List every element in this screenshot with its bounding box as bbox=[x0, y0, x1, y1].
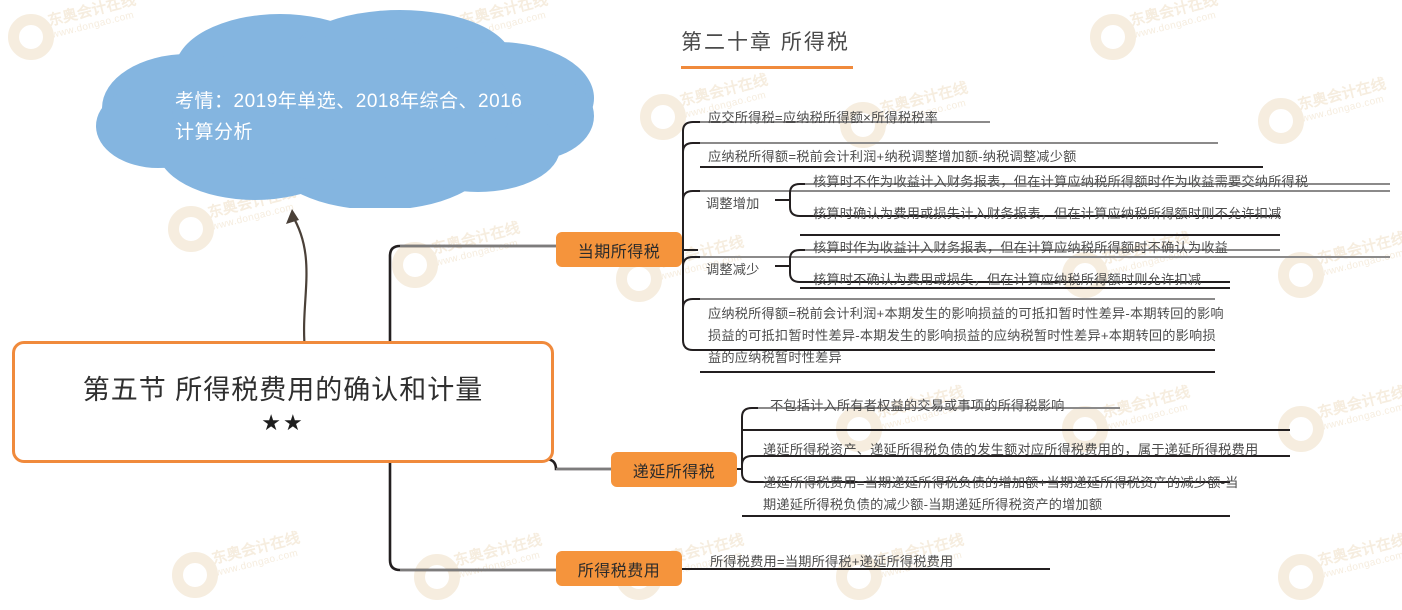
leaf-increase-2: 核算时确认为费用或损失计入财务报表，但在计算应纳税所得额时则不允许扣减 bbox=[813, 204, 1282, 224]
root-stars: ★★ bbox=[261, 409, 304, 437]
leaf-deferred-1: 不包括计入所有者权益的交易或事项的所得税影响 bbox=[770, 396, 1065, 416]
branch-label-income-tax-expense[interactable]: 所得税费用 bbox=[556, 551, 682, 586]
leaf-decrease-2: 核算时不确认为费用或损失，但在计算应纳税所得额时则允许扣减 bbox=[813, 270, 1201, 290]
leaf-increase-1: 核算时不作为收益计入财务报表，但在计算应纳税所得额时作为收益需要交纳所得税 bbox=[813, 172, 1308, 192]
root-node[interactable]: 第五节 所得税费用的确认和计量 ★★ bbox=[12, 341, 554, 463]
trunk-deferred-branch bbox=[545, 459, 611, 469]
cloud-text: 考情：2019年单选、2018年综合、2016计算分析 bbox=[175, 86, 525, 148]
leaf-decrease-1: 核算时作为收益计入财务报表，但在计算应纳税所得额时不确认为收益 bbox=[813, 238, 1228, 258]
root-title: 第五节 所得税费用的确认和计量 bbox=[83, 368, 484, 407]
trunk-lower-spine bbox=[390, 459, 556, 570]
exam-info-cloud: 考情：2019年单选、2018年综合、2016计算分析 bbox=[80, 8, 620, 208]
leaf-current-formula: 应纳税所得额=税前会计利润+本期发生的影响损益的可抵扣暂时性差异-本期转回的影响… bbox=[708, 303, 1228, 369]
leaf-deferred-2: 递延所得税资产、递延所得税负债的发生额对应所得税费用的，属于递延所得税费用 bbox=[763, 440, 1258, 460]
branch-label-deferred-tax[interactable]: 递延所得税 bbox=[611, 452, 737, 487]
leaf-current-2: 应纳税所得额=税前会计利润+纳税调整增加额-纳税调整减少额 bbox=[708, 147, 1076, 167]
leaf-current-1: 应交所得税=应纳税所得额×所得税税率 bbox=[708, 108, 938, 128]
mindmap-canvas: 东奥会计在线 www.dongao.com 东奥会计在线 www.dongao.… bbox=[0, 0, 1402, 610]
trunk-current-tax bbox=[390, 246, 556, 345]
branch-label-current-tax[interactable]: 当期所得税 bbox=[556, 232, 682, 267]
cloud-arrow-connector bbox=[292, 215, 306, 350]
chapter-title: 第二十章 所得税 bbox=[681, 26, 853, 56]
chapter-heading: 第二十章 所得税 bbox=[681, 26, 853, 69]
chapter-underline bbox=[681, 66, 853, 69]
leaf-expense-1: 所得税费用=当期所得税+递延所得税费用 bbox=[710, 552, 953, 572]
leaf-adjust-increase-label: 调整增加 bbox=[706, 193, 760, 212]
cloud-arrow-head bbox=[286, 209, 299, 224]
leaf-adjust-decrease-label: 调整减少 bbox=[706, 259, 760, 278]
leaf-deferred-formula: 递延所得税费用=当期递延所得税负债的增加额+当期递延所得税资产的减少额-当期递延… bbox=[763, 472, 1241, 516]
